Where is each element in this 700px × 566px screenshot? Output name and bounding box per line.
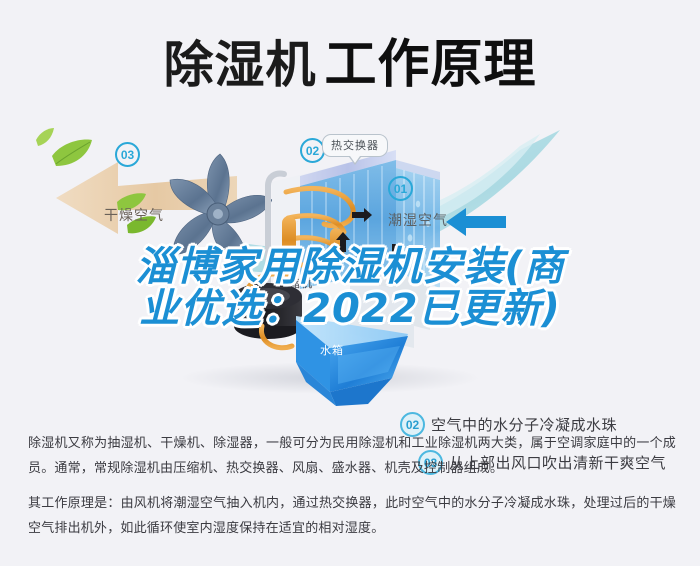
label-humid-air: 潮湿空气 [388, 210, 448, 230]
badge-humid-air: 01 [388, 176, 413, 201]
poster-root: 除湿机工作原理 [0, 0, 700, 566]
label-water-tank: 水箱 [320, 342, 344, 358]
badge-dry-air: 03 [115, 142, 140, 167]
page-title-part1: 除湿机 [163, 36, 316, 94]
body-paragraph-1: 除湿机又称为抽湿机、干燥机、除湿器，一般可分为民用除湿机和工业除湿机两大类，属于… [28, 431, 676, 482]
page-title-part2: 工作原理 [324, 36, 536, 94]
heat-exchanger-callout: 热交换器 [322, 134, 388, 157]
body-paragraph-2: 其工作原理是：由风机将潮湿空气抽入机内，通过热交换器，此时空气中的水分子冷凝成水… [28, 491, 676, 542]
label-dry-air: 干燥空气 [104, 205, 164, 225]
dehumidifier-diagram: 03 02 01 热交换器 干燥空气 潮湿空气 压缩机 水箱 02 空气中的水分… [0, 120, 700, 410]
page-title: 除湿机工作原理 [0, 22, 700, 97]
label-compressor: 压缩机 [277, 275, 313, 291]
